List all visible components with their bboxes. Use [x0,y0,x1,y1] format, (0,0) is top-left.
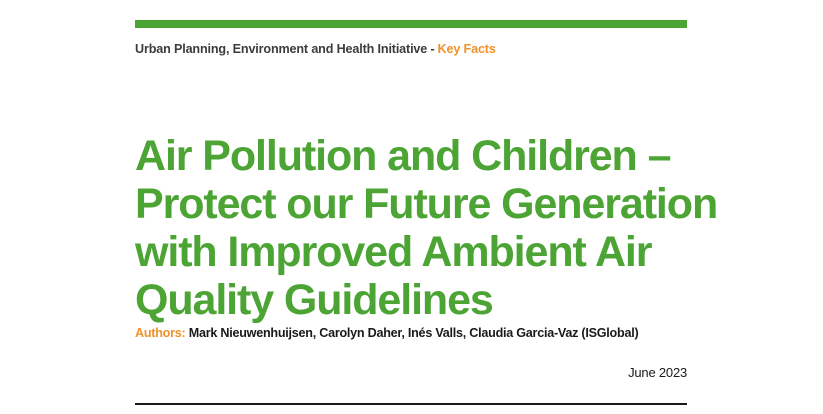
authors-label: Authors: [135,326,185,340]
bottom-divider [135,403,687,405]
series-kicker: Urban Planning, Environment and Health I… [135,40,687,58]
page-title: Air Pollution and Children – Protect our… [135,132,705,324]
title-line-4: Quality Guidelines [135,276,705,324]
title-line-1: Air Pollution and Children – [135,132,705,180]
series-label: Urban Planning, Environment and Health I… [135,42,435,56]
document-page: Urban Planning, Environment and Health I… [0,0,823,414]
authors-names: Mark Nieuwenhuijsen, Carolyn Daher, Inés… [185,326,638,340]
key-facts-badge: Key Facts [438,42,496,56]
top-green-divider [135,20,687,28]
publication-date: June 2023 [135,365,687,380]
authors-block: Authors: Mark Nieuwenhuijsen, Carolyn Da… [135,326,695,341]
title-line-2: Protect our Future Generation [135,180,705,228]
title-line-3: with Improved Ambient Air [135,228,705,276]
